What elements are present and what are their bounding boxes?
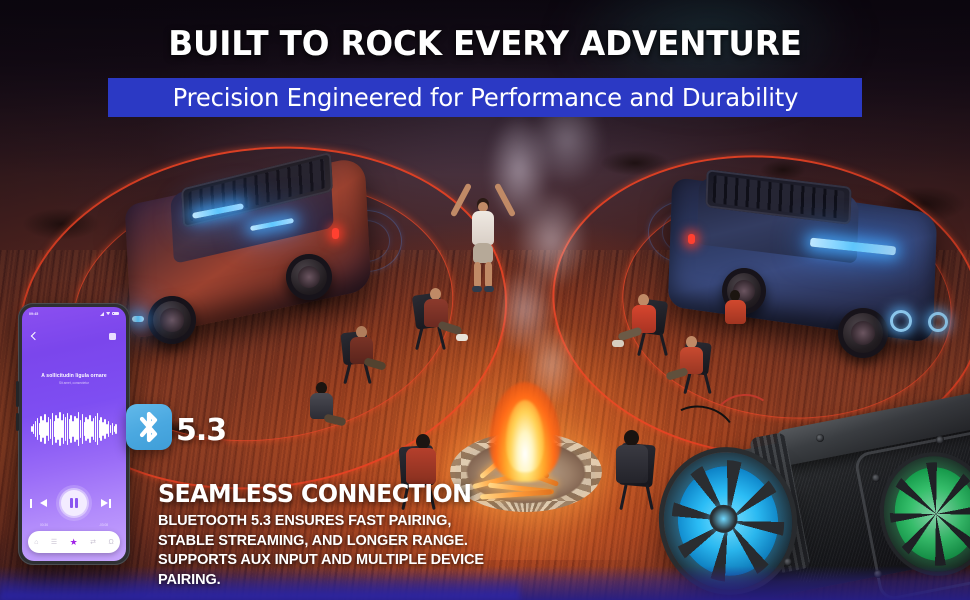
vehicle-wheel [286, 254, 332, 300]
progress-times: 00:36 -03:08 [22, 523, 126, 527]
tail-light [688, 234, 695, 244]
vehicle-wheel [838, 308, 888, 358]
page-title: BUILT TO ROCK EVERY ADVENTURE [19, 24, 950, 64]
feature-title: SEAMLESS CONNECTION [158, 479, 471, 508]
person-seated [300, 378, 350, 440]
pause-icon[interactable] [61, 490, 87, 516]
battery-icon [112, 312, 119, 316]
home-icon[interactable]: ⌂ [34, 539, 38, 546]
waveform-bar [115, 424, 117, 434]
shuffle-icon[interactable]: ⇄ [90, 539, 96, 546]
remaining-time: -03:08 [99, 523, 108, 527]
person-shoe [456, 334, 468, 341]
person-shorts [473, 243, 493, 263]
person-seated [718, 286, 764, 348]
waveform-bar [52, 413, 54, 445]
person-arm-right [494, 183, 516, 218]
waveform-bar [67, 413, 69, 445]
phone-power-button[interactable] [16, 413, 19, 431]
person-head [624, 430, 639, 446]
bluetooth-icon [126, 404, 172, 450]
phone-status-bar: 09:45 [22, 307, 126, 320]
phone-screen: 09:45 A sollicitudin ligula ornare Sit a… [22, 307, 126, 561]
person-torso [725, 300, 746, 324]
waveform-bar [37, 418, 39, 440]
vehicle-wheel [148, 296, 196, 344]
person-seated [412, 284, 470, 356]
product-banner: BUILT TO ROCK EVERY ADVENTURE Precision … [0, 0, 970, 600]
signal-icon [100, 312, 104, 316]
tail-light [332, 228, 339, 239]
waveform-bar [97, 413, 99, 445]
phone-tab-bar: ⌂☰★⇄Ω [28, 531, 120, 553]
phone-volume-button[interactable] [16, 381, 19, 407]
now-playing-info: A sollicitudin ligula ornare Sit amet, c… [22, 373, 126, 385]
fog-light [132, 316, 144, 322]
skip-next-icon[interactable] [101, 499, 108, 507]
head-lamp [928, 312, 948, 332]
bluetooth-version-label: 5.3 [176, 413, 226, 448]
subtitle-text: Precision Engineered for Performance and… [172, 83, 798, 112]
skip-previous-icon[interactable] [40, 499, 47, 507]
person-head [416, 434, 430, 449]
person-leg-left [474, 262, 481, 288]
phone-nav-row [22, 327, 126, 345]
audio-waveform[interactable] [31, 412, 117, 446]
person-shoe [612, 340, 624, 347]
phone-mockup: 09:45 A sollicitudin ligula ornare Sit a… [18, 303, 130, 565]
person-leg [323, 413, 346, 426]
person-leg-right [485, 262, 492, 288]
waveform-bar [112, 423, 114, 435]
person-torso [472, 211, 494, 245]
person-shoe-right [484, 286, 494, 292]
person-shoe-left [472, 286, 482, 292]
waveform-bar [82, 414, 84, 444]
feature-description: BLUETOOTH 5.3 ENSURES FAST PAIRING, STAB… [158, 512, 488, 590]
subtitle-banner: Precision Engineered for Performance and… [108, 78, 862, 117]
chevron-left-icon[interactable] [31, 332, 39, 340]
speaker-screw [784, 558, 792, 566]
person-leg [665, 367, 688, 381]
favorites-icon[interactable]: ★ [70, 538, 78, 547]
elapsed-time: 00:36 [40, 523, 48, 527]
person-arm-left [450, 183, 472, 218]
speaker-screw [816, 434, 824, 442]
wifi-icon [106, 312, 111, 316]
speaker-screw [872, 474, 880, 482]
status-time: 09:45 [29, 312, 38, 316]
menu-icon[interactable] [109, 333, 116, 340]
headphones-icon[interactable]: Ω [109, 539, 114, 546]
track-title: A sollicitudin ligula ornare [22, 373, 126, 379]
library-icon[interactable]: ☰ [51, 539, 57, 546]
playback-controls [22, 485, 126, 521]
speaker-screw [936, 436, 944, 444]
person-seated [660, 330, 716, 400]
track-subtitle: Sit amet, consectetur [22, 381, 126, 385]
head-lamp [890, 310, 912, 332]
